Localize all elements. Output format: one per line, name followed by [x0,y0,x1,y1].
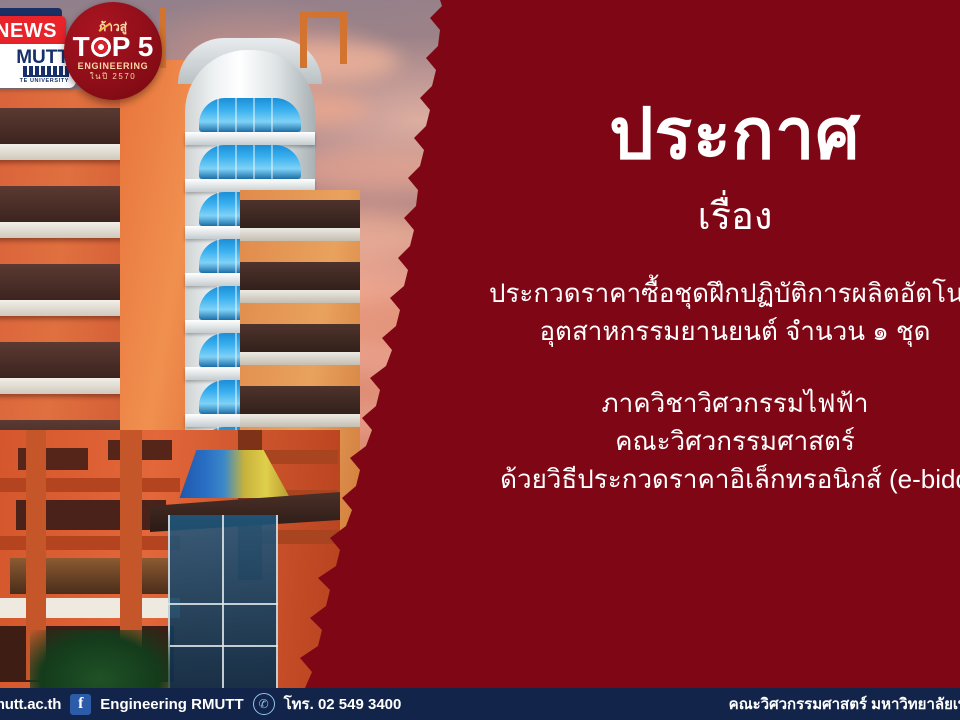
badge-letter-t: T [73,33,90,61]
footer-bar: .rmutt.ac.th f Engineering RMUTT ✆ โทร. … [0,688,960,720]
facebook-icon[interactable]: f [70,694,91,715]
rmutt-seal-icon [23,66,69,77]
shrub [30,630,170,688]
procurement-description: ประกวดราคาซื้อชุดฝึกปฏิบัติการผลิตอัตโนม… [489,274,960,350]
department-line: ภาควิชาวิศวกรรมไฟฟ้า [500,384,960,422]
rmutt-logo-label: MUTT [16,49,69,66]
footer-contact-group: .rmutt.ac.th f Engineering RMUTT ✆ โทร. … [0,692,401,716]
badge-top5-label: T P 5 [73,33,154,61]
building-illustration [0,60,330,688]
page-title: ประกาศ [609,96,861,172]
phone-icon: ✆ [253,693,275,715]
facebook-page-label[interactable]: Engineering RMUTT [100,696,243,713]
procurement-description-line-2: อุตสาหกรรมยานยนต์ จำนวน ๑ ชุด [489,312,960,350]
roof-mast [340,12,347,64]
badge-p5-label: P 5 [112,33,154,61]
organization-label: คณะวิศวกรรมศาสตร์ มหาวิทยาลัยเทคโ [729,692,960,716]
department-and-method: ภาควิชาวิศวกรรมไฟฟ้า คณะวิศวกรรมศาสตร์ ด… [500,384,960,498]
procurement-description-line-1: ประกวดราคาซื้อชุดฝึกปฏิบัติการผลิตอัตโนม… [489,274,960,312]
website-link[interactable]: .rmutt.ac.th [0,696,61,713]
top5-engineering-badge: ก้าวสู่ T P 5 ENGINEERING ในปี 2570 [64,2,162,100]
badge-year-label: ในปี 2570 [90,72,136,81]
announcement-poster: NEWS MUTT TE UNIVERSITY ก้าวสู่ T P 5 EN… [0,0,960,720]
faculty-line: คณะวิศวกรรมศาสตร์ [500,422,960,460]
phone-number-label: โทร. 02 549 3400 [284,692,402,716]
news-logo-label: NEWS [0,20,57,43]
announcement-text-area: ประกาศ เรื่อง ประกวดราคาซื้อชุดฝึกปฏิบัต… [470,0,960,688]
bidding-method-line: ด้วยวิธีประกวดราคาอิเล็กทรอนิกส์ (e-bidd [500,460,960,498]
subject-label: เรื่อง [698,194,773,240]
badge-engineering-label: ENGINEERING [78,61,149,72]
building-entrance [168,515,278,688]
news-logo: NEWS [0,16,66,46]
rmutt-logo-sublabel: TE UNIVERSITY [20,78,69,84]
roof-mast [300,12,307,68]
target-icon [91,37,111,57]
